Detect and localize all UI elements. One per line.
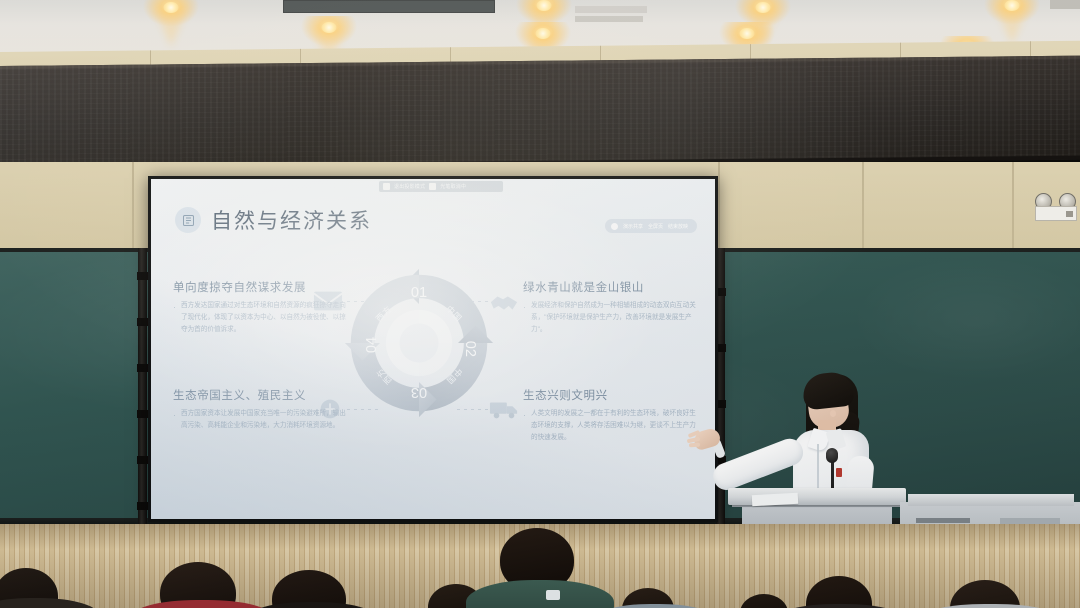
powerpoint-overlay-bar[interactable]: 退出投影模式 光笔取消中: [379, 181, 503, 192]
slide-title-row: 自然与经济关系: [175, 205, 372, 235]
quadrant-bottom-right: 生态兴则文明兴 人类文明的发展之一都在于有利的生态环境，破坏良好生态环境的支撑，…: [523, 387, 699, 444]
quadrant-body: 人类文明的发展之一都在于有利的生态环境，破坏良好生态环境的支撑，人类将存活困难以…: [523, 408, 699, 444]
toolbar-label-2[interactable]: 全屏页: [648, 223, 663, 230]
quadrant-body: 发展经济和保护自然成为一种相辅相成的动态双向互动关系，"保护环境就是保护生产力，…: [523, 300, 699, 336]
quadrant-heading: 生态兴则文明兴: [523, 387, 699, 403]
cycle-number-04: 04: [364, 337, 380, 353]
overlay-label-left: 退出投影模式: [394, 183, 425, 190]
quadrant-body: 西方国家资本让发展中国家充当唯一的污染避难所，输出高污染、高耗能企业和污染地，大…: [173, 408, 349, 432]
pointer-icon: [429, 183, 436, 190]
quadrant-heading: 单向度掠夺自然谋求发展: [173, 279, 349, 295]
grid-icon: [383, 183, 390, 190]
cycle-number-03: 03: [411, 384, 427, 400]
slide-toolbar[interactable]: 演示共享 全屏页 结束放映: [605, 219, 697, 233]
slide-canvas[interactable]: 退出投影模式 光笔取消中 自然与经济关系 演示共享 全屏页 结束放映: [151, 179, 715, 519]
quadrant-heading: 绿水青山就是金山银山: [523, 279, 699, 295]
audience-collar: [546, 590, 560, 600]
laser-pointer-icon[interactable]: [611, 223, 618, 230]
ceiling-vent: [1050, 0, 1080, 9]
microphone-icon: [826, 448, 838, 463]
ceiling-vent: [575, 6, 647, 13]
quadrant-body: 西方发达国家通过对生态环境和自然资源的疯狂掠夺走向了现代化，体现了以资本为中心、…: [173, 300, 349, 336]
overlay-label-right: 光笔取消中: [440, 183, 466, 190]
page-title: 自然与经济关系: [211, 205, 372, 235]
lapel-badge: [836, 468, 842, 477]
blackboard-rail: [138, 248, 147, 530]
ceiling-vent: [283, 0, 495, 13]
lecture-hall-photo: 退出投影模式 光笔取消中 自然与经济关系 演示共享 全屏页 结束放映: [0, 0, 1080, 608]
cycle-diagram: 01 02 03 04 西方 中国 中国 西方: [341, 265, 497, 421]
book-icon: [175, 207, 201, 233]
quadrant-top-right: 绿水青山就是金山银山 发展经济和保护自然成为一种相辅相成的动态双向互动关系，"保…: [523, 279, 699, 336]
quadrant-bottom-left: 生态帝国主义、殖民主义 西方国家资本让发展中国家充当唯一的污染避难所，输出高污染…: [173, 387, 349, 432]
ear: [830, 410, 836, 417]
toolbar-label-3[interactable]: 结束放映: [668, 223, 688, 230]
ceiling-vent: [575, 16, 643, 22]
upper-dark-panel: [0, 56, 1080, 170]
emergency-light-icon: [1035, 193, 1077, 221]
quadrant-heading: 生态帝国主义、殖民主义: [173, 387, 349, 403]
quadrant-top-left: 单向度掠夺自然谋求发展 西方发达国家通过对生态环境和自然资源的疯狂掠夺走向了现代…: [173, 279, 349, 336]
cycle-number-01: 01: [411, 285, 427, 301]
cycle-number-02: 02: [462, 341, 478, 357]
projection-screen: 退出投影模式 光笔取消中 自然与经济关系 演示共享 全屏页 结束放映: [148, 176, 718, 522]
toolbar-label-1[interactable]: 演示共享: [623, 223, 643, 230]
